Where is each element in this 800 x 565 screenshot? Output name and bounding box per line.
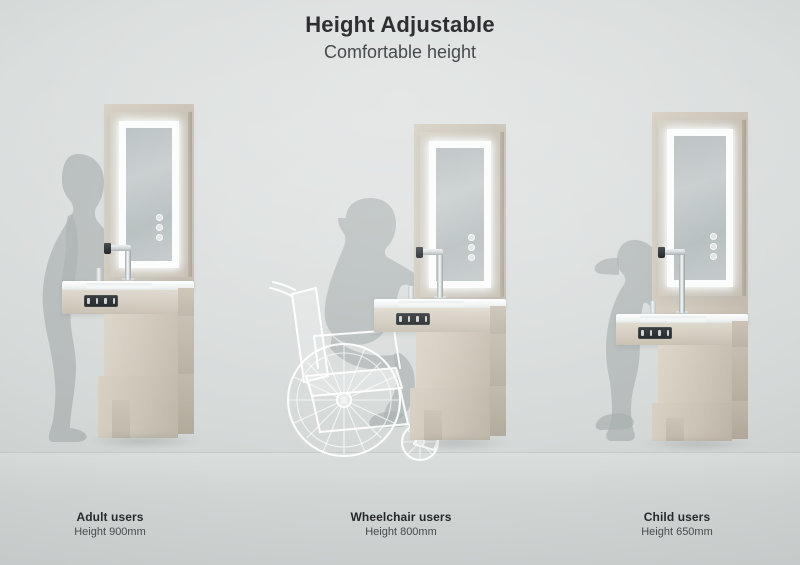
pedestal-upper-side <box>732 347 748 401</box>
control-digit-1 <box>641 330 644 336</box>
led-backlit-mirror <box>110 112 188 277</box>
caption-wheelchair: Wheelchair users Height 800mm <box>291 510 511 538</box>
faucet-sensor-tip <box>104 243 111 254</box>
control-digit-3 <box>104 298 107 304</box>
pedestal-upper <box>658 345 732 403</box>
pedestal-upper <box>104 314 178 376</box>
mirror-led-border <box>667 129 733 287</box>
pedestal-upper <box>416 332 490 388</box>
mirror-glass <box>126 128 172 261</box>
height-control-panel[interactable] <box>638 327 672 339</box>
caption-title: Wheelchair users <box>291 510 511 524</box>
height-control-panel[interactable] <box>84 295 118 307</box>
unit-floor-shadow <box>390 432 520 454</box>
led-backlit-mirror <box>420 132 500 297</box>
control-digit-1 <box>87 298 90 304</box>
caption-child: Child users Height 650mm <box>567 510 787 538</box>
pedestal-lower-side <box>178 374 194 434</box>
height-control-panel[interactable] <box>396 313 430 325</box>
mirror-touch-button-2[interactable] <box>156 224 163 231</box>
control-digit-2 <box>96 298 98 304</box>
control-digit-3 <box>416 316 419 322</box>
caption-title: Child users <box>567 510 787 524</box>
scene-child: Child users Height 650mm <box>534 0 800 565</box>
control-digit-4 <box>667 330 669 336</box>
control-digit-2 <box>650 330 652 336</box>
unit-floor-shadow <box>78 430 208 452</box>
counter-apron-side <box>490 306 506 334</box>
mirror-touch-controls[interactable] <box>156 214 163 241</box>
washbasin <box>640 316 706 322</box>
counter-apron-side <box>178 288 194 316</box>
infographic-canvas: Height Adjustable Comfortable height <box>0 0 800 565</box>
caption-height: Height 800mm <box>291 526 511 538</box>
mirror-glass <box>436 148 484 281</box>
mirror-touch-button-1[interactable] <box>468 234 475 241</box>
scene-wheelchair: Wheelchair users Height 800mm <box>268 0 534 565</box>
mirror-touch-button-1[interactable] <box>156 214 163 221</box>
mirror-touch-button-1[interactable] <box>710 233 717 240</box>
mirror-touch-button-3[interactable] <box>710 253 717 260</box>
mirror-touch-controls[interactable] <box>468 234 475 261</box>
scene-adult: Adult users Height 900mm <box>0 0 268 565</box>
counter-apron <box>62 290 178 314</box>
control-digit-4 <box>113 298 115 304</box>
faucet-sensor-tip <box>658 247 665 258</box>
faucet-sensor-tip <box>416 247 423 258</box>
caption-adult: Adult users Height 900mm <box>0 510 220 538</box>
pedestal-upper-side <box>490 334 506 386</box>
pedestal-lower-side <box>490 386 506 436</box>
led-backlit-mirror <box>658 120 742 296</box>
mirror-touch-button-2[interactable] <box>468 244 475 251</box>
counter-apron-side <box>732 321 748 347</box>
control-digit-4 <box>425 316 427 322</box>
mirror-touch-button-3[interactable] <box>468 254 475 261</box>
caption-height: Height 900mm <box>0 526 220 538</box>
pedestal-lower <box>98 376 178 438</box>
counter-apron <box>616 323 732 345</box>
caption-height: Height 650mm <box>567 526 787 538</box>
washbasin <box>398 301 464 307</box>
unit-floor-shadow <box>632 434 762 454</box>
faucet-column[interactable] <box>437 252 443 298</box>
control-digit-3 <box>658 330 661 336</box>
mirror-touch-controls[interactable] <box>710 233 717 260</box>
washbasin <box>86 283 152 289</box>
control-digit-2 <box>408 316 410 322</box>
counter-apron <box>374 308 490 332</box>
pedestal-upper-side <box>178 316 194 374</box>
mirror-touch-button-3[interactable] <box>156 234 163 241</box>
faucet-column[interactable] <box>679 252 685 313</box>
faucet-column[interactable] <box>125 248 131 280</box>
control-digit-1 <box>399 316 402 322</box>
mirror-touch-button-2[interactable] <box>710 243 717 250</box>
caption-title: Adult users <box>0 510 220 524</box>
